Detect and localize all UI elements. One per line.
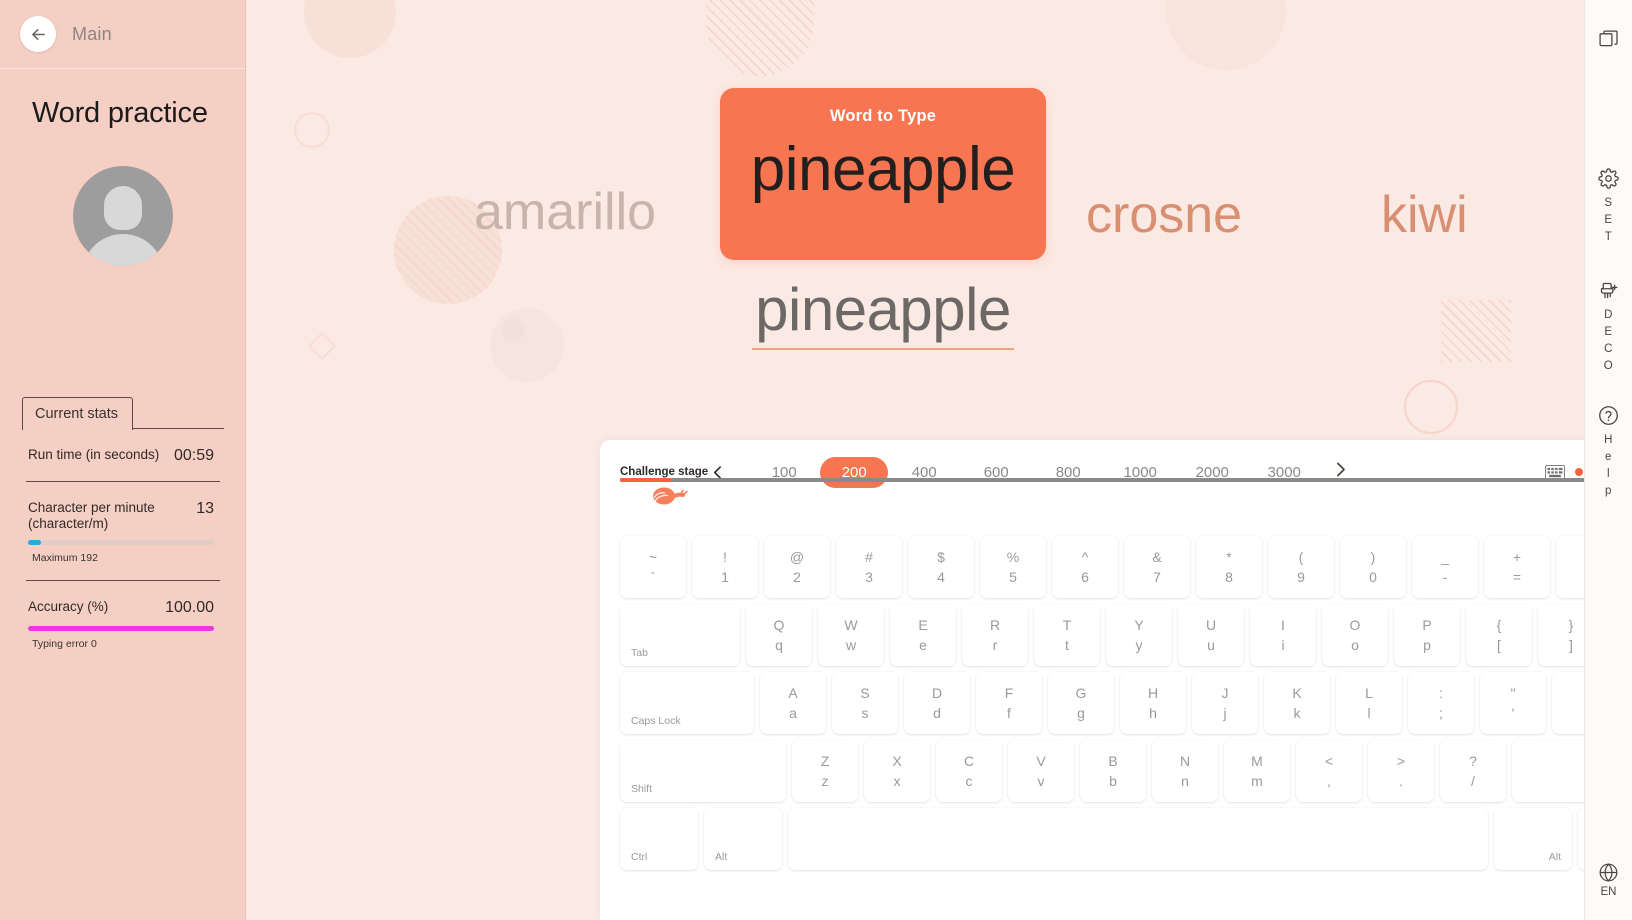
word-card-label: Word to Type	[830, 107, 936, 126]
key-u[interactable]: Uu	[1178, 604, 1244, 666]
key-base-label: '	[1512, 703, 1515, 723]
virtual-keyboard: ~`!1@2#3$4%5^6&7*8(9)0_-+=BackspaceTabQq…	[620, 536, 1584, 876]
key-shift-label: <	[1325, 751, 1333, 771]
key-1[interactable]: !1	[692, 536, 758, 598]
key-shift[interactable]: Shift	[620, 740, 786, 802]
rail-language-label: EN	[1601, 886, 1617, 898]
keyboard-status-dot	[1575, 468, 1583, 476]
key-base-label: h	[1149, 703, 1157, 723]
key-base-label: 4	[937, 567, 945, 587]
key-base-label: 9	[1297, 567, 1305, 587]
rail-label-help: Help	[1604, 432, 1613, 500]
key-base-label: k	[1294, 703, 1301, 723]
key-shift-label: +	[1513, 547, 1521, 567]
key-base-label: g	[1077, 703, 1085, 723]
deco-circle	[304, 0, 396, 58]
rail-label-settings: SET	[1604, 195, 1612, 246]
key-base-label: z	[822, 771, 829, 791]
stats-tab-rule	[133, 428, 224, 429]
key-backspace[interactable]: Backspace	[1556, 536, 1584, 598]
key-.[interactable]: >.	[1368, 740, 1434, 802]
key-shift-label: J	[1222, 683, 1229, 703]
background-word: crosne	[1086, 185, 1242, 245]
rail-item-language[interactable]: EN	[1598, 862, 1619, 898]
challenge-stage-text: Challenge stage	[620, 466, 708, 478]
word-card-word: pineapple	[751, 134, 1015, 205]
key-alt[interactable]: Alt	[1494, 808, 1572, 870]
stage-list: 100200400600800100020003000	[748, 457, 1320, 488]
key-base-label: 8	[1225, 567, 1233, 587]
key-shift-label: )	[1371, 547, 1376, 567]
key-h[interactable]: Hh	[1120, 672, 1186, 734]
typed-word-underline	[752, 348, 1014, 350]
challenge-stage-label[interactable]: Challenge stage	[620, 466, 722, 479]
stat-row: Accuracy (%)100.00Typing error 0	[22, 581, 224, 650]
key-9[interactable]: (9	[1268, 536, 1334, 598]
background-word: amarillo	[474, 182, 656, 242]
avatar-body	[82, 234, 164, 266]
deco-dot	[501, 318, 525, 342]
key-base-label: j	[1223, 703, 1226, 723]
right-rail: SET DECO Help EN	[1584, 0, 1632, 920]
key-base-label: f	[1007, 703, 1011, 723]
page-title-wrap: Word practice	[0, 97, 245, 130]
key-ctrl[interactable]: Ctrl	[620, 808, 698, 870]
tab-current-stats[interactable]: Current stats	[22, 397, 133, 430]
key-shift-label: A	[788, 683, 797, 703]
stat-bar-track	[28, 626, 214, 631]
stat-value: 00:59	[174, 447, 214, 465]
main-stage: amarilloplantaincrosnekiwi Word to Type …	[246, 0, 1584, 920]
key-base-label: y	[1136, 635, 1143, 655]
deco-circle-top-right	[1166, 0, 1286, 70]
deco-stripe-shape	[706, 0, 814, 76]
key-base-label: `	[651, 567, 656, 587]
key-a[interactable]: Aa	[760, 672, 826, 734]
key-shift-label: V	[1036, 751, 1045, 771]
key-f[interactable]: Ff	[976, 672, 1042, 734]
stage-pill-100[interactable]: 100	[748, 457, 820, 488]
key-m[interactable]: Mm	[1224, 740, 1290, 802]
key-shift-label: N	[1180, 751, 1190, 771]
key-k[interactable]: Kk	[1264, 672, 1330, 734]
key-label: Alt	[1549, 851, 1561, 863]
typed-word: pineapple	[751, 275, 1015, 344]
progress-area	[620, 484, 1584, 526]
stat-head: Accuracy (%)100.00	[28, 599, 214, 617]
stage-pill-1000[interactable]: 1000	[1104, 457, 1176, 488]
key-base-label: [	[1497, 635, 1501, 655]
key-shift-label: "	[1511, 683, 1516, 703]
keyboard-row: ShiftZzXxCcVvBbNnMm<,>.?/Shift	[620, 740, 1584, 802]
progress-track[interactable]	[620, 478, 1584, 482]
rail-item-settings[interactable]: SET	[1598, 168, 1619, 246]
key-caps-lock[interactable]: Caps Lock	[620, 672, 754, 734]
key-v[interactable]: Vv	[1008, 740, 1074, 802]
snail-icon	[648, 484, 688, 506]
chevron-right-icon	[1336, 462, 1346, 477]
key-shift-label: ^	[1082, 547, 1089, 567]
stage-pill-2000[interactable]: 2000	[1176, 457, 1248, 488]
key-,[interactable]: <,	[1296, 740, 1362, 802]
key-base-label: n	[1181, 771, 1189, 791]
stat-row: Character per minute (character/m)13Maxi…	[22, 482, 224, 564]
key-base-label: e	[919, 635, 927, 655]
stat-sub-label: Typing error 0	[28, 638, 214, 650]
key-/[interactable]: ?/	[1440, 740, 1506, 802]
key-base-label: l	[1367, 703, 1370, 723]
key-base-label: 6	[1081, 567, 1089, 587]
key-shift-label: S	[860, 683, 869, 703]
key-z[interactable]: Zz	[792, 740, 858, 802]
key-0[interactable]: )0	[1340, 536, 1406, 598]
key--[interactable]: _-	[1412, 536, 1478, 598]
key-shift-label: G	[1076, 683, 1087, 703]
stat-bar-fill	[28, 626, 214, 631]
key-y[interactable]: Yy	[1106, 604, 1172, 666]
key-alt[interactable]: Alt	[704, 808, 782, 870]
key-shift-label: &	[1152, 547, 1161, 567]
window-copy-icon	[1599, 30, 1619, 50]
page-title: Word practice	[32, 97, 208, 130]
key-shift-label: >	[1397, 751, 1405, 771]
globe-icon	[1598, 862, 1619, 883]
key-shift-label: L	[1365, 683, 1373, 703]
key-c[interactable]: Cc	[936, 740, 1002, 802]
back-label: Main	[72, 24, 112, 45]
key-shift-label: ~	[649, 547, 657, 567]
deco-ring-right	[1404, 380, 1458, 434]
deco-stripe-right	[1441, 300, 1511, 362]
stage-pill-600[interactable]: 600	[960, 457, 1032, 488]
key-base-label: /	[1471, 771, 1475, 791]
stats-tabbar: Current stats	[22, 393, 224, 429]
key-base-label: p	[1423, 635, 1431, 655]
key-o[interactable]: Oo	[1322, 604, 1388, 666]
avatar-head	[104, 186, 142, 230]
key-enter[interactable]: Enter	[1552, 672, 1584, 734]
key-shift-label: E	[918, 615, 927, 635]
key-`[interactable]: ~`	[620, 536, 686, 598]
stage-pill-200[interactable]: 200	[820, 457, 888, 488]
key-shift-label: $	[937, 547, 945, 567]
stat-value: 100.00	[165, 599, 214, 617]
key-base-label: 3	[865, 567, 873, 587]
key-7[interactable]: &7	[1124, 536, 1190, 598]
deco-diamond	[308, 332, 336, 360]
avatar	[73, 166, 173, 266]
stat-label: Run time (in seconds)	[28, 447, 159, 463]
key-base-label: a	[789, 703, 797, 723]
key-base-label: b	[1109, 771, 1117, 791]
key-base-label: x	[894, 771, 901, 791]
stats-rows: Run time (in seconds)00:59Character per …	[22, 429, 224, 650]
key-base-label: d	[933, 703, 941, 723]
key-base-label: c	[966, 771, 973, 791]
key-shift-label: K	[1292, 683, 1301, 703]
key-g[interactable]: Gg	[1048, 672, 1114, 734]
key-label: Tab	[631, 647, 648, 659]
keyboard-row: CtrlAltAltCtrl	[620, 808, 1584, 870]
key-base-label: .	[1399, 771, 1403, 791]
key-shift-label: }	[1569, 615, 1574, 635]
keyboard-row: ~`!1@2#3$4%5^6&7*8(9)0_-+=Backspace	[620, 536, 1584, 598]
key-base-label: 0	[1369, 567, 1377, 587]
key-shift-label: P	[1422, 615, 1431, 635]
gear-icon	[1598, 168, 1619, 189]
key-shift-label: (	[1299, 547, 1304, 567]
key-shift-label: W	[844, 615, 857, 635]
key-[[interactable]: {[	[1466, 604, 1532, 666]
key-4[interactable]: $4	[908, 536, 974, 598]
key-shift-label: C	[964, 751, 974, 771]
key-shift-label: @	[790, 547, 804, 567]
key-shift-label: Z	[821, 751, 830, 771]
key-base-label: v	[1038, 771, 1045, 791]
key-tab[interactable]: Tab	[620, 604, 740, 666]
chevron-left-icon[interactable]	[713, 466, 722, 479]
key-shift-label: ?	[1469, 751, 1477, 771]
key-s[interactable]: Ss	[832, 672, 898, 734]
key-shift-label: H	[1148, 683, 1158, 703]
current-stats-panel: Current stats Run time (in seconds)00:59…	[0, 393, 246, 650]
key-shift-label: F	[1005, 683, 1014, 703]
key-label: Ctrl	[631, 851, 647, 863]
key-base-label: o	[1351, 635, 1359, 655]
key-5[interactable]: %5	[980, 536, 1046, 598]
deco-ring	[294, 112, 330, 148]
key-r[interactable]: Rr	[962, 604, 1028, 666]
stat-label: Character per minute (character/m)	[28, 500, 188, 531]
key-base-label: =	[1513, 567, 1521, 587]
stage-pill-3000[interactable]: 3000	[1248, 457, 1320, 488]
sidebar-header: Main	[0, 0, 245, 69]
key-shift-label: !	[723, 547, 727, 567]
keyboard-panel: Challenge stage 100200400600800100020003…	[600, 440, 1584, 920]
key-shift-label: {	[1497, 615, 1502, 635]
key-base-label: r	[993, 635, 998, 655]
key-3[interactable]: #3	[836, 536, 902, 598]
stat-head: Character per minute (character/m)13	[28, 500, 214, 531]
rail-item-deco[interactable]: DECO	[1598, 280, 1619, 375]
key-d[interactable]: Dd	[904, 672, 970, 734]
key-shift-label: I	[1281, 615, 1285, 635]
key-shift-label: R	[990, 615, 1000, 635]
key-shift-label: *	[1226, 547, 1231, 567]
key-label: Shift	[631, 783, 652, 795]
key-shift-label: B	[1108, 751, 1117, 771]
key-shift-label: M	[1251, 751, 1263, 771]
key-base-label: s	[862, 703, 869, 723]
key-][interactable]: }]	[1538, 604, 1584, 666]
key-e[interactable]: Ee	[890, 604, 956, 666]
brush-icon	[1598, 280, 1619, 301]
key-x[interactable]: Xx	[864, 740, 930, 802]
key-base-label: m	[1251, 771, 1263, 791]
stage-pill-800[interactable]: 800	[1032, 457, 1104, 488]
key-q[interactable]: Qq	[746, 604, 812, 666]
key-base-label: w	[846, 635, 856, 655]
arrow-left-icon	[29, 25, 48, 44]
key-l[interactable]: Ll	[1336, 672, 1402, 734]
stat-bar-track	[28, 540, 214, 545]
background-word: kiwi	[1381, 185, 1468, 245]
key-j[interactable]: Jj	[1192, 672, 1258, 734]
key-;[interactable]: :;	[1408, 672, 1474, 734]
key-shift-label: Y	[1134, 615, 1143, 635]
stat-row: Run time (in seconds)00:59	[22, 429, 224, 465]
typed-word-area[interactable]: pineapple	[720, 275, 1046, 350]
key-shift-label: %	[1007, 547, 1019, 567]
key-i[interactable]: Ii	[1250, 604, 1316, 666]
key-'[interactable]: "'	[1480, 672, 1546, 734]
key-base-label: 2	[793, 567, 801, 587]
key-base-label: ;	[1439, 703, 1443, 723]
key-2[interactable]: @2	[764, 536, 830, 598]
key-base-label: q	[775, 635, 783, 655]
key-shift-label: O	[1350, 615, 1361, 635]
key-base-label: i	[1281, 635, 1284, 655]
back-button[interactable]	[20, 16, 56, 52]
key-6[interactable]: ^6	[1052, 536, 1118, 598]
stat-value: 13	[196, 500, 214, 518]
stat-sub-label: Maximum 192	[28, 552, 214, 564]
keyboard-row: Caps LockAaSsDdFfGgHhJjKkLl:;"'Enter	[620, 672, 1584, 734]
key-shift-label: X	[892, 751, 901, 771]
key-shift[interactable]: Shift	[1512, 740, 1584, 802]
key-base-label: 5	[1009, 567, 1017, 587]
key-label: Alt	[715, 851, 727, 863]
key-base-label: 1	[721, 567, 729, 587]
key-8[interactable]: *8	[1196, 536, 1262, 598]
rail-item-help[interactable]: Help	[1598, 405, 1619, 500]
key-p[interactable]: Pp	[1394, 604, 1460, 666]
rail-label-deco: DECO	[1604, 307, 1613, 375]
key-b[interactable]: Bb	[1080, 740, 1146, 802]
key-shift-label: Q	[774, 615, 785, 635]
key-base-label: u	[1207, 635, 1215, 655]
key-space[interactable]	[788, 808, 1488, 870]
key-base-label: t	[1065, 635, 1069, 655]
key-shift-label: T	[1063, 615, 1072, 635]
stat-head: Run time (in seconds)00:59	[28, 447, 214, 465]
key-shift-label: :	[1439, 683, 1443, 703]
key-w[interactable]: Ww	[818, 604, 884, 666]
word-to-type-card: Word to Type pineapple	[720, 88, 1046, 260]
rail-item-window[interactable]	[1599, 30, 1619, 50]
progress-fill	[620, 478, 671, 482]
key-shift-label: #	[865, 547, 873, 567]
key-=[interactable]: +=	[1484, 536, 1550, 598]
question-circle-icon	[1598, 405, 1619, 426]
key-shift-label: U	[1206, 615, 1216, 635]
stat-bar-fill	[28, 540, 41, 545]
key-t[interactable]: Tt	[1034, 604, 1100, 666]
key-base-label: ]	[1569, 635, 1573, 655]
key-n[interactable]: Nn	[1152, 740, 1218, 802]
key-label: Caps Lock	[631, 715, 681, 727]
left-sidebar: Main Word practice Current stats Run tim…	[0, 0, 246, 920]
stat-label: Accuracy (%)	[28, 599, 108, 615]
stage-pill-400[interactable]: 400	[888, 457, 960, 488]
key-shift-label: _	[1441, 547, 1449, 567]
deco-circle-muted	[490, 308, 564, 382]
keyboard-row: TabQqWwEeRrTtYyUuIiOoPp{[}]|\	[620, 604, 1584, 666]
key-base-label: -	[1443, 567, 1448, 587]
key-shift-label: D	[932, 683, 942, 703]
key-base-label: 7	[1153, 567, 1161, 587]
key-base-label: ,	[1327, 771, 1331, 791]
